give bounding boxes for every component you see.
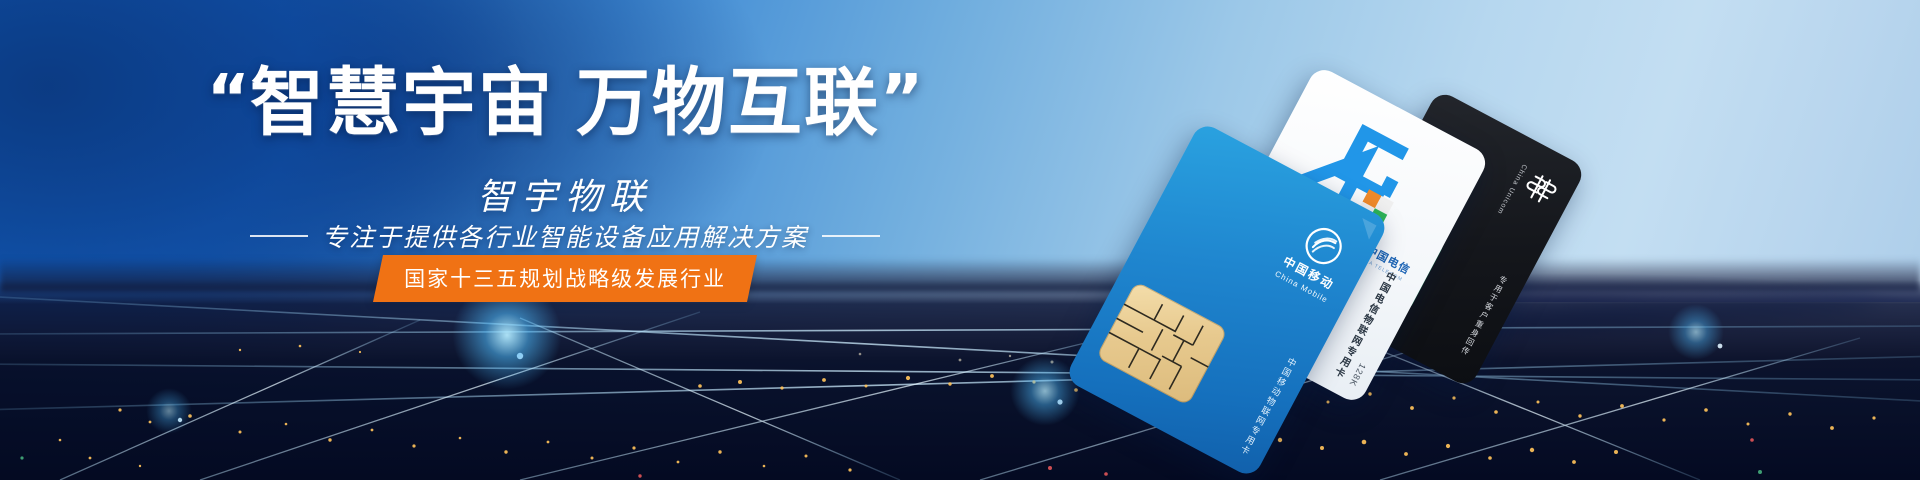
hero-banner: “智慧宇宙万物互联” 智宇物联 专注于提供各行业智能设备应用解决方案 国家十三五… xyxy=(0,0,1920,480)
china-unicom-logo-icon xyxy=(1519,168,1562,209)
card-corner-notch xyxy=(1355,218,1377,240)
network-node-glow-3 xyxy=(1668,304,1724,360)
china-mobile-logo: 中国移动 China Mobile xyxy=(1273,215,1358,304)
network-node-glow-primary xyxy=(452,280,562,390)
china-telecom-side-text-small: 128K xyxy=(1347,362,1368,389)
china-unicom-side-text: 专用于客户重身回传 xyxy=(1458,274,1510,359)
sim-chip-contacts xyxy=(1096,281,1228,406)
sim-card-cluster: China Unicom 专用于客户重身回传 xyxy=(1120,90,1640,420)
network-node-glow-4 xyxy=(146,388,192,434)
